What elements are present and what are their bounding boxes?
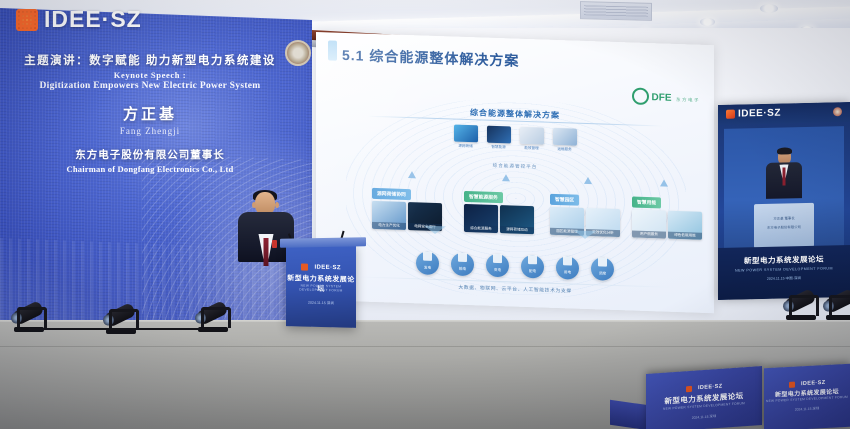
forum-title-en: NEW POWER SYSTEM DEVELOPMENT FORUM: [718, 266, 850, 273]
solution-card-caption: 电力生产优化: [372, 222, 406, 230]
dfe-logo-sub: 东方电子: [676, 97, 700, 103]
value-chain-item: 发电: [416, 247, 439, 271]
thumbnail-label: 能效管理: [520, 146, 544, 152]
solution-card-caption: 综合能源服务: [464, 225, 498, 233]
solution-group: 智慧用能 用户侧服务 绿色低碳用能: [632, 190, 702, 239]
idee-grid-mark-icon: [726, 110, 735, 119]
ceiling-downlight: [700, 18, 715, 26]
solution-group: 智慧园区 园区能源管理 能效优化分析: [550, 188, 620, 237]
thumbnail-image: [520, 127, 544, 145]
up-arrow-icon: [408, 171, 416, 178]
podium-on-screen: 方正基 董事长 东方电子股份有限公司: [754, 203, 814, 248]
light-yoke: [17, 307, 47, 328]
chain-node-label: 发电: [416, 265, 439, 271]
right-led-screen: IDEE·SZ 方正基 董事长 东方电子股份有限公司 新型电力系统发展论坛 NE…: [718, 102, 850, 300]
solution-card: 绿色低碳用能: [668, 211, 702, 240]
speaker-ear: [275, 202, 279, 208]
solution-card: 用户侧服务: [632, 209, 666, 238]
solution-group-label: 智慧能源服务: [464, 191, 503, 203]
projected-slide: 5.1 综合能源整体解决方案 DFE 东方电子 综合能源整体解决方案 源网荷储: [316, 32, 714, 313]
solution-card: 电力生产优化: [372, 201, 406, 230]
chain-node-icon: [416, 251, 439, 275]
table-card-date: 2024.11.15 深圳: [764, 404, 850, 414]
chain-node-label: 调度: [591, 271, 614, 277]
solution-group-label: 智慧园区: [550, 194, 579, 206]
power-cable: [28, 328, 228, 330]
speaker-torso: [766, 162, 802, 199]
podium-on-screen-line1: 方正基 董事长: [754, 203, 814, 221]
light-base: [826, 315, 850, 320]
speaker-title-cn: 东方电子股份有限公司董事长: [0, 147, 300, 162]
right-screen-logo: IDEE·SZ: [726, 108, 781, 120]
speaker-name-cn: 方正基: [0, 103, 300, 124]
value-chain-item: 调度: [591, 253, 614, 277]
light-yoke: [829, 295, 850, 316]
chain-node-icon: [486, 254, 509, 278]
idee-sz-logo: IDEE·SZ: [16, 6, 142, 33]
moving-head-light: [824, 288, 850, 320]
ceiling-downlight: [760, 4, 778, 13]
lectern-top: [280, 237, 366, 248]
light-yoke: [201, 307, 231, 328]
lectern-logo-text: IDEE·SZ: [314, 265, 340, 272]
keynote-topic-cn: 主题演讲：数字赋能 助力新型电力系统建设: [0, 52, 300, 68]
forum-title-cn: 新型电力系统发展论坛: [718, 245, 850, 267]
thumbnail-image: [553, 128, 577, 146]
down-arrow-icon: [574, 231, 596, 240]
idee-grid-mark-icon: [16, 9, 38, 31]
lectern-date: 2024.11.15 深圳: [286, 300, 356, 307]
speaker-tie: [264, 238, 269, 266]
up-arrow-icon: [584, 177, 592, 184]
thumbnail-item: 运维服务: [553, 128, 577, 153]
lectern: IDEE·SZ 新型电力系统发展论坛 NEW POWER SYSTEM DEVE…: [286, 242, 356, 328]
solution-card-caption: 源网荷储互动: [500, 226, 534, 234]
solution-group-label: 智慧用能: [632, 196, 661, 208]
chain-node-label: 用电: [556, 270, 579, 276]
thumbnail-item: 源网荷储: [454, 125, 478, 150]
keynote-banner-text: 主题演讲：数字赋能 助力新型电力系统建设 Keynote Speech : Di…: [0, 52, 300, 174]
table-name-card: IDEE·SZ 新型电力系统发展论坛 NEW POWER SYSTEM DEVE…: [646, 366, 762, 429]
speaker-title-en: Chairman of Dongfang Electronics Co., Lt…: [0, 164, 300, 174]
light-yoke: [789, 295, 819, 316]
table-card-logo-text: IDEE·SZ: [801, 380, 826, 387]
live-camera-feed: 方正基 董事长 东方电子股份有限公司: [724, 126, 844, 249]
speaker-badge: [272, 240, 277, 248]
thumbnail-item: 智慧能源: [487, 126, 511, 151]
keynote-topic-en-line1: Keynote Speech :: [0, 70, 300, 80]
solution-group-label: 源网荷储协同: [372, 188, 411, 200]
thumbnail-label: 运维服务: [553, 147, 577, 153]
value-chain-item: 配电: [521, 251, 544, 275]
idee-grid-mark-icon: [301, 264, 308, 271]
ceiling-air-vent: [580, 1, 652, 21]
solution-card: 源网荷储互动: [500, 205, 534, 234]
solution-group: 源网荷储协同 电力生产优化 电网安全运行: [372, 182, 442, 231]
value-chain-item: 变电: [486, 250, 509, 274]
idee-grid-mark-icon: [686, 386, 692, 392]
lectern-title-en: NEW POWER SYSTEM DEVELOPMENT FORUM: [286, 283, 356, 293]
light-yoke: [109, 309, 139, 330]
value-chain-item: 输电: [451, 248, 474, 272]
chain-node-icon: [556, 256, 579, 280]
chain-node-label: 变电: [486, 268, 509, 274]
slide-accent-bar: [328, 40, 337, 60]
chain-node-icon: [591, 257, 614, 281]
solution-card: 综合能源服务: [464, 204, 498, 233]
thumbnail-image: [487, 126, 511, 144]
podium-on-screen-line2: 东方电子股份有限公司: [754, 220, 814, 230]
solution-group: 智慧能源服务 综合能源服务 源网荷储互动: [464, 185, 534, 234]
up-arrow-icon: [502, 174, 510, 181]
light-base: [786, 315, 816, 320]
thumbnail-image: [454, 125, 478, 143]
floor-seam: [0, 346, 850, 347]
dfe-logo: DFE 东方电子: [632, 86, 700, 106]
thumbnail-label: 源网荷储: [454, 144, 478, 150]
down-arrow-icon: [424, 226, 446, 235]
right-screen-logo-text: IDEE·SZ: [738, 108, 781, 120]
thumbnail-item: 能效管理: [520, 127, 544, 152]
speaker-name-en: Fang Zhengji: [0, 126, 300, 136]
solution-card-caption: 绿色低碳用能: [668, 232, 702, 240]
chain-node-label: 输电: [451, 266, 474, 272]
chain-node-label: 配电: [521, 269, 544, 275]
table-card-date: 2024.11.15 深圳: [646, 410, 762, 423]
idee-grid-mark-icon: [789, 381, 795, 387]
keynote-topic-en-line2: Digitization Empowers New Electric Power…: [0, 81, 300, 91]
table-name-card: IDEE·SZ 新型电力系统发展论坛 NEW POWER SYSTEM DEVE…: [764, 364, 850, 429]
table-card-logo-text: IDEE·SZ: [698, 383, 723, 391]
speaker-ear: [252, 202, 256, 208]
dfe-ring-icon: [632, 87, 649, 105]
thumbnail-label: 智慧能源: [487, 145, 511, 151]
conference-stage-photo: IDEE·SZ 主题演讲：数字赋能 助力新型电力系统建设 Keynote Spe…: [0, 0, 850, 429]
chain-node-icon: [521, 255, 544, 279]
left-led-wall-content: IDEE·SZ 主题演讲：数字赋能 助力新型电力系统建设 Keynote Spe…: [0, 0, 312, 320]
slide-title: 5.1 综合能源整体解决方案: [342, 45, 519, 71]
value-chain-item: 用电: [556, 252, 579, 276]
up-arrow-icon: [660, 179, 668, 186]
idee-sz-logo-text: IDEE·SZ: [44, 6, 142, 33]
speaker-on-screen: [766, 149, 802, 199]
solution-card-caption: 用户侧服务: [632, 230, 666, 238]
forum-date: 2024.11.15 中国·深圳: [718, 275, 850, 283]
moving-head-light: [784, 288, 818, 320]
chain-node-icon: [451, 252, 474, 276]
dfe-logo-text: DFE: [652, 92, 672, 104]
